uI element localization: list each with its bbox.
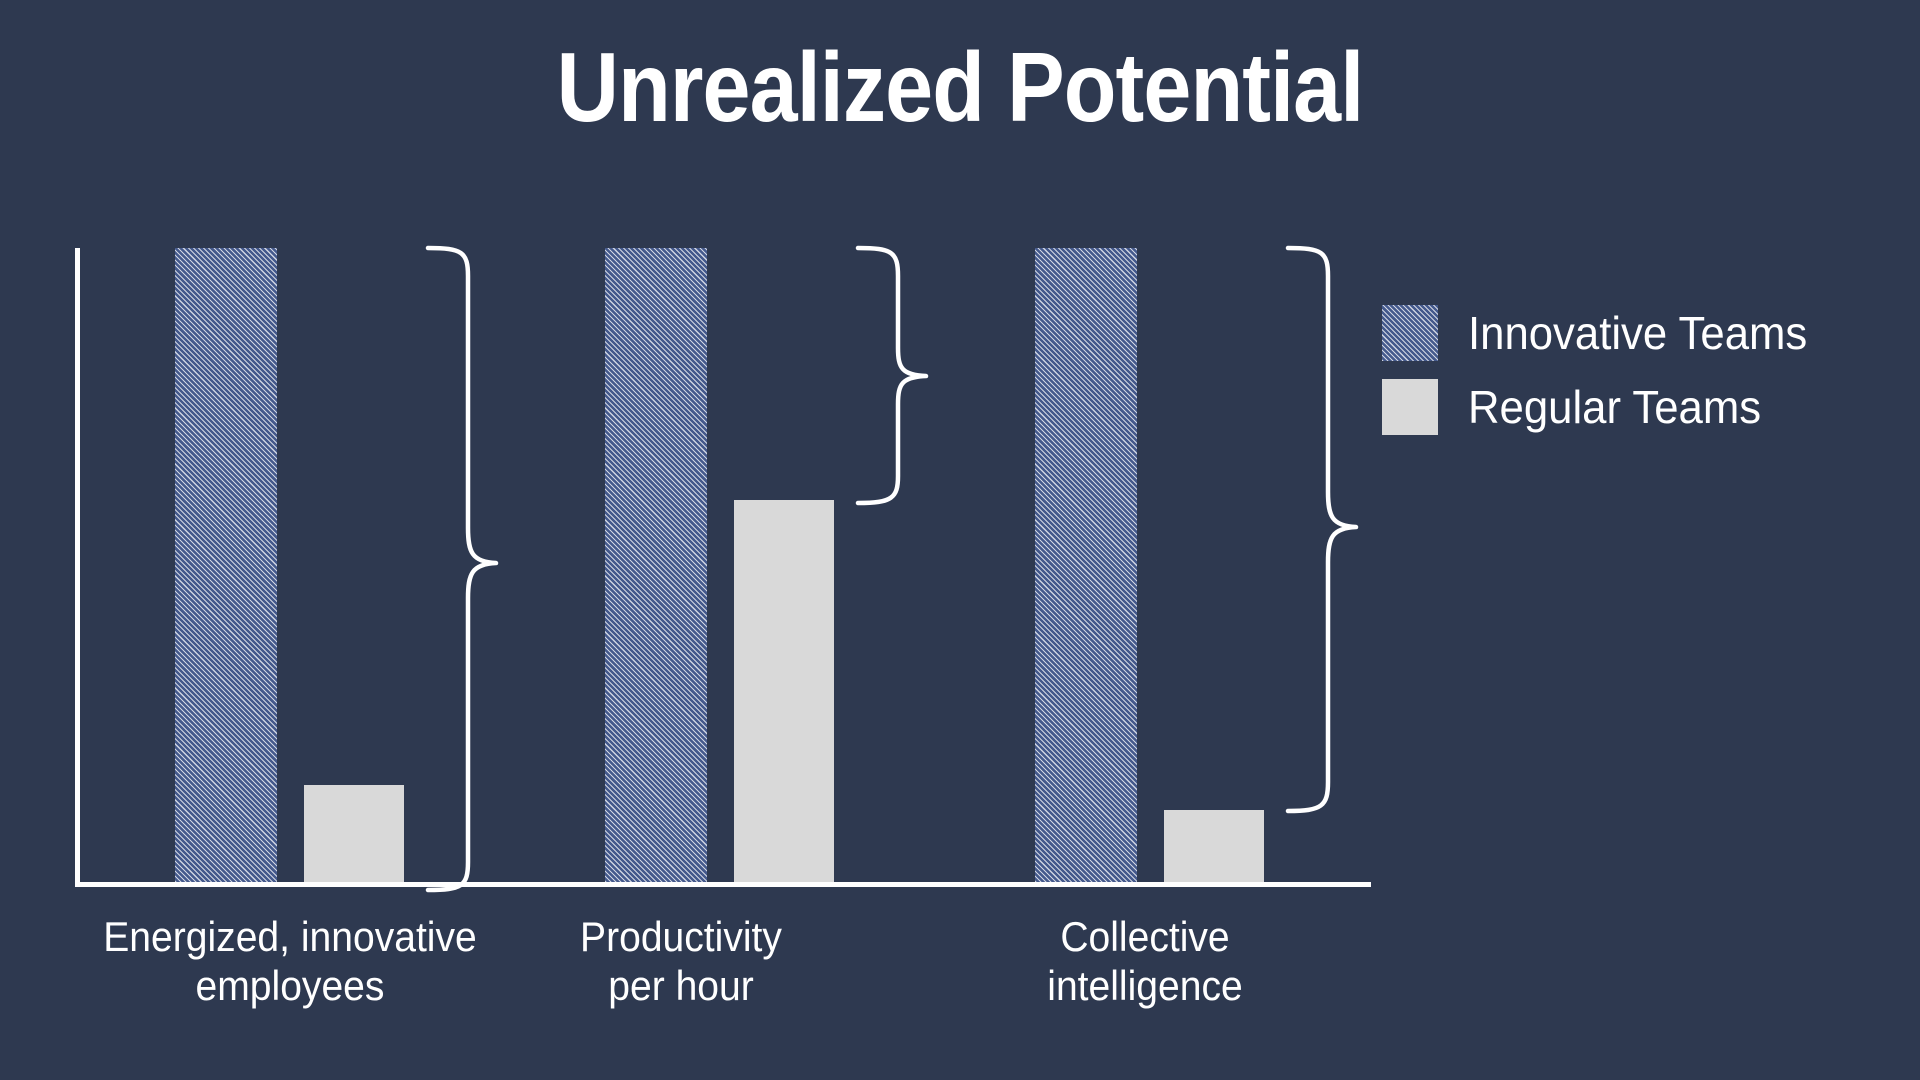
category-label-line: Productivity <box>509 912 853 961</box>
legend-label-regular: Regular Teams <box>1468 380 1761 434</box>
category-label-line: Energized, innovative <box>62 912 518 961</box>
category-label-productivity: Productivity per hour <box>509 912 853 1010</box>
y-axis-line <box>75 248 80 887</box>
brace-productivity <box>854 240 934 512</box>
bar-regular-productivity[interactable] <box>734 500 834 882</box>
bar-regular-collective[interactable] <box>1164 810 1264 882</box>
category-label-energized: Energized, innovative employees <box>62 912 518 1010</box>
bar-innovative-collective[interactable] <box>1035 248 1137 882</box>
bar-innovative-productivity[interactable] <box>605 248 707 882</box>
category-label-line: employees <box>62 961 518 1010</box>
bar-innovative-energized[interactable] <box>175 248 277 882</box>
bar-regular-energized[interactable] <box>304 785 404 882</box>
plot-area: Energized, innovative employees Producti… <box>0 0 1920 1080</box>
legend-swatch-icon-innovative <box>1382 305 1438 361</box>
category-label-collective: Collective intelligence <box>978 912 1313 1010</box>
chart-canvas: Unrealized Potential Energized, innovati… <box>0 0 1920 1080</box>
legend-label-innovative: Innovative Teams <box>1468 306 1807 360</box>
brace-energized <box>424 240 504 900</box>
category-label-line: intelligence <box>978 961 1313 1010</box>
legend-item-regular-teams[interactable]: Regular Teams <box>1382 370 1882 444</box>
category-label-line: per hour <box>509 961 853 1010</box>
legend-swatch-icon-regular <box>1382 379 1438 435</box>
brace-collective <box>1284 240 1364 820</box>
category-label-line: Collective <box>978 912 1313 961</box>
x-axis-line <box>75 882 1371 887</box>
legend-item-innovative-teams[interactable]: Innovative Teams <box>1382 296 1882 370</box>
chart-legend: Innovative Teams Regular Teams <box>1382 296 1882 444</box>
